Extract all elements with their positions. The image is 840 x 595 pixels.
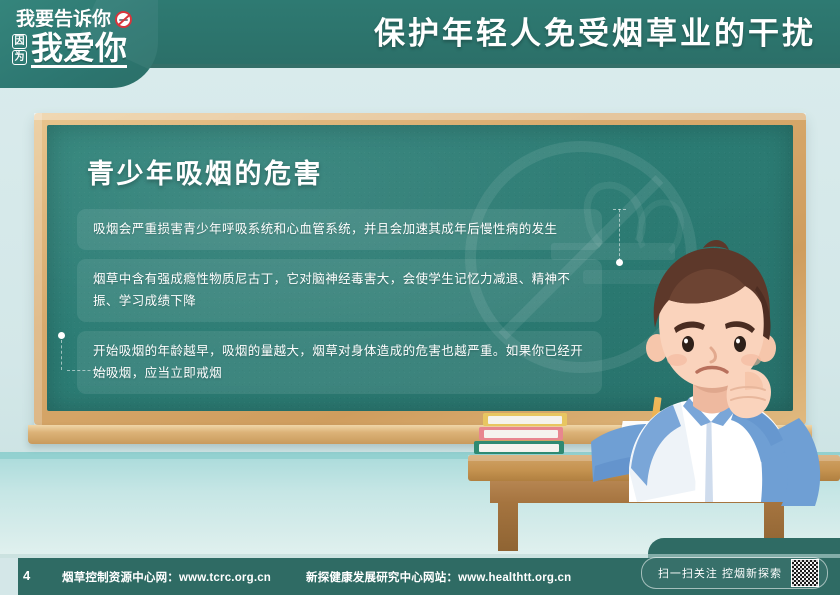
poster-canvas: 青少年吸烟的危害 吸烟会严重损害青少年呼吸系统和心血管系统，并且会加速其成年后慢…	[0, 0, 840, 595]
qr-code-icon	[791, 559, 819, 587]
book-stack	[474, 413, 566, 459]
no-smoking-icon	[115, 11, 132, 28]
footer-link-healthtt[interactable]: 新探健康发展研究中心网站：www.healthtt.org.cn	[306, 569, 571, 585]
board-bullet-item: 烟草中含有强成瘾性物质尼古丁，它对脑神经毒害大，会使学生记忆力减退、精神不振、学…	[77, 259, 602, 322]
page-number: 4	[23, 568, 30, 583]
footer-link-tcrc[interactable]: 烟草控制资源中心网：www.tcrc.org.cn	[62, 569, 271, 585]
logo-line-2: 因 为 我爱你	[12, 33, 127, 68]
because-char-1: 因	[12, 34, 27, 49]
because-badge: 因 为	[12, 34, 27, 65]
qr-panel-label: 扫一扫关注 控烟新探索	[658, 565, 782, 581]
student-illustration	[585, 230, 835, 530]
dashed-connector-left	[55, 330, 117, 382]
board-bullet-item: 吸烟会严重损害青少年呼吸系统和心血管系统，并且会加速其成年后慢性病的发生	[77, 209, 602, 250]
board-bullet-item: 开始吸烟的年龄越早，吸烟的量越大，烟草对身体造成的危害也越严重。如果你已经开始吸…	[77, 331, 602, 394]
board-title: 青少年吸烟的危害	[87, 152, 323, 191]
book-item	[479, 427, 563, 440]
brand-logo[interactable]: 我要告诉你 因 为 我爱你	[0, 0, 158, 88]
book-item	[474, 441, 564, 454]
logo-line-1: 我要告诉你	[16, 10, 132, 29]
because-char-2: 为	[12, 50, 27, 65]
book-item	[483, 413, 567, 426]
desk-leg	[498, 503, 518, 551]
logo-line-2-text: 我爱你	[31, 33, 127, 68]
footer-corner-notch	[0, 558, 18, 595]
qr-follow-panel[interactable]: 扫一扫关注 控烟新探索	[641, 557, 828, 589]
board-bullet-list: 吸烟会严重损害青少年呼吸系统和心血管系统，并且会加速其成年后慢性病的发生 烟草中…	[77, 209, 602, 403]
page-title: 保护年轻人免受烟草业的干扰	[374, 12, 816, 56]
logo-line-1-text: 我要告诉你	[16, 10, 111, 29]
